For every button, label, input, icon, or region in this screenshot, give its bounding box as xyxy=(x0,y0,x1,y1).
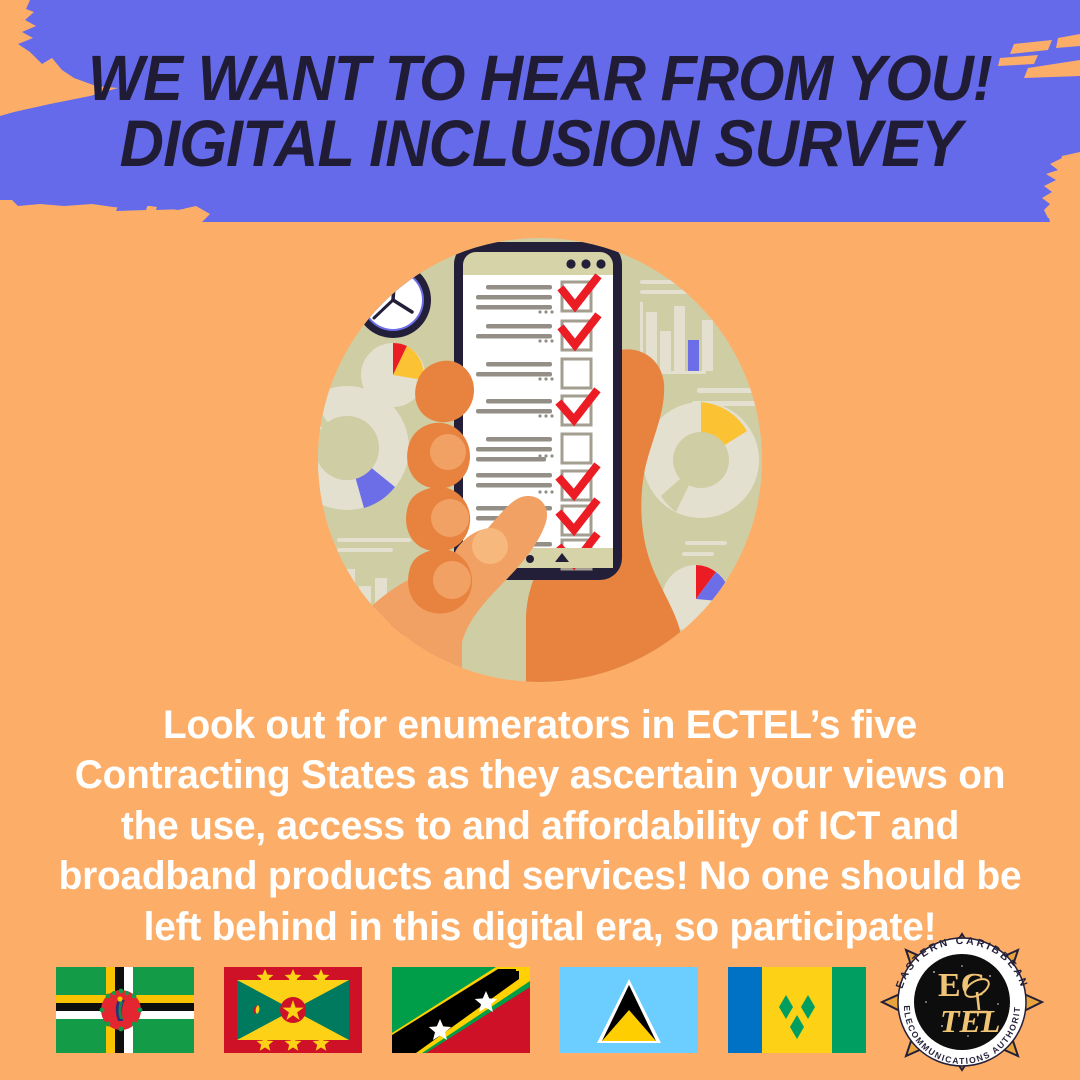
logo-monogram-bottom: TEL xyxy=(940,1003,1000,1039)
wall-clock-icon xyxy=(355,262,431,338)
headline-primary: WE WANT TO HEAR FROM YOU! xyxy=(88,48,992,108)
phone-nav-dot xyxy=(526,555,534,563)
survey-illustration xyxy=(290,228,790,690)
flag-saint-kitts-and-nevis xyxy=(392,967,530,1053)
survey-illustration-svg xyxy=(290,228,790,690)
flag-saint-lucia xyxy=(560,967,698,1053)
donut-chart-left xyxy=(290,386,409,510)
flag-dominica xyxy=(56,967,194,1053)
flag-grenada xyxy=(224,967,362,1053)
flag-saint-vincent-and-the-grenadines xyxy=(728,967,866,1053)
donut-chart-right xyxy=(643,402,759,518)
contracting-states-flag-strip xyxy=(56,966,866,1054)
phone-camera-dots xyxy=(566,259,605,268)
body-paragraph: Look out for enumerators in ECTEL’s five… xyxy=(51,700,1029,952)
headline-secondary: DIGITAL INCLUSION SURVEY xyxy=(119,112,961,174)
poster-canvas: WE WANT TO HEAR FROM YOU! DIGITAL INCLUS… xyxy=(0,0,1080,1080)
banner-text-block: WE WANT TO HEAR FROM YOU! DIGITAL INCLUS… xyxy=(0,0,1080,222)
header-banner: WE WANT TO HEAR FROM YOU! DIGITAL INCLUS… xyxy=(0,0,1080,222)
ectel-logo: EASTERN CARIBBEAN TELECOMMUNICATIONS AUT… xyxy=(878,932,1046,1072)
